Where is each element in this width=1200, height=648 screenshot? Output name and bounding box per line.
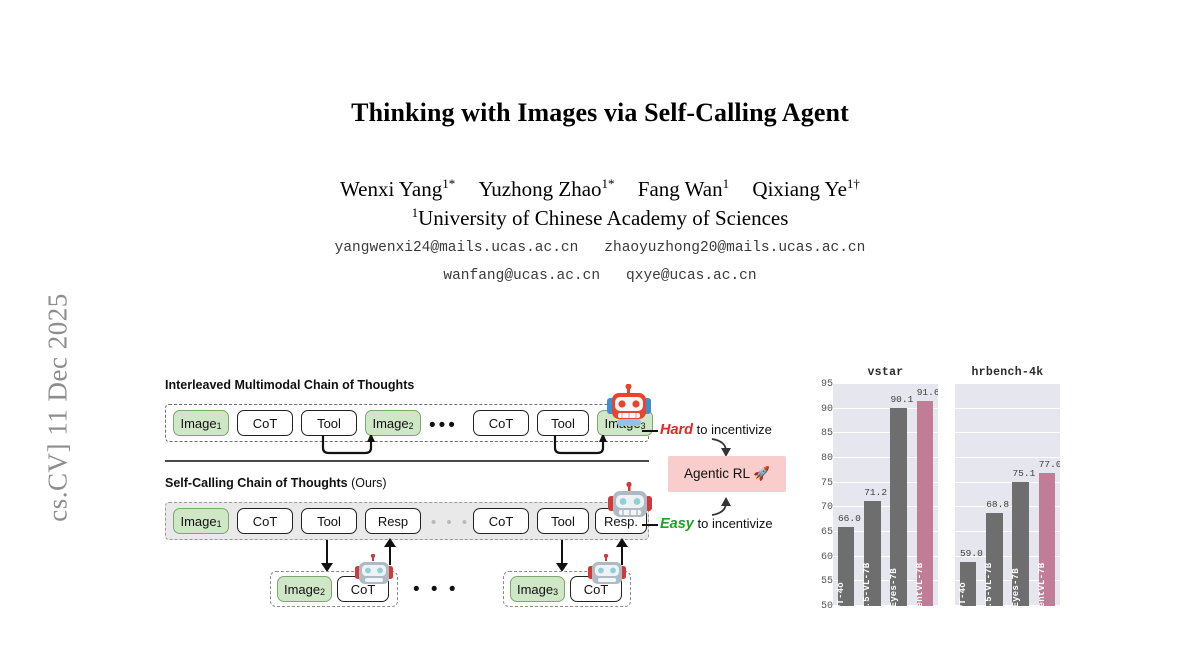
node-sc-tool-2[interactable]: Tool <box>537 508 589 534</box>
bar-value-label: 59.0 <box>960 548 976 559</box>
author-name: Wenxi Yang <box>340 177 442 201</box>
author-marks: 1 <box>723 176 730 191</box>
email-row-primary: yangwenxi24@mails.ucas.ac.cnzhaoyuzhong2… <box>0 240 1200 256</box>
agentic-rl-box[interactable]: Agentic RL 🚀 <box>668 456 786 492</box>
author-marks: 1† <box>847 176 860 191</box>
node-image-1[interactable]: Image1 <box>173 410 229 436</box>
interleaved-section-heading: Interleaved Multimodal Chain of Thoughts <box>165 378 414 392</box>
bar-series-label: Qwen2.5-VL-7B <box>984 563 994 606</box>
bar-value-label: 71.2 <box>864 487 880 498</box>
easy-annotation: Easy to incentivize <box>660 516 773 532</box>
robot-gray-icon-sub-2 <box>586 554 628 592</box>
author-entry: Wenxi Yang1* <box>340 177 455 201</box>
bar: SubagentVL-7B <box>917 401 933 606</box>
gridline <box>955 432 1060 433</box>
bar-series-label: SubagentVL-7B <box>915 563 925 606</box>
affiliation-name: University of Chinese Academy of Science… <box>418 206 788 230</box>
bar-value-label: 68.8 <box>986 499 1002 510</box>
gridline <box>955 408 1060 409</box>
y-tick-label: 95 <box>803 379 833 390</box>
node-sc-tool-1[interactable]: Tool <box>301 508 357 534</box>
author-entry: Qixiang Ye1† <box>752 177 860 201</box>
node-tool-1[interactable]: Tool <box>301 410 357 436</box>
email-link[interactable]: yangwenxi24@mails.ucas.ac.cn <box>335 240 579 256</box>
author-marks: 1* <box>442 176 455 191</box>
bar: GPT-4o <box>838 527 854 606</box>
node-image-2[interactable]: Image2 <box>365 410 421 436</box>
chart-panel-hrbench: hrbench-4k GPT-4o59.0Qwen2.5-VL-7B68.8De… <box>955 366 1060 606</box>
selfcalling-ellipsis: • • • <box>431 515 470 530</box>
bar-value-label: 90.1 <box>890 394 906 405</box>
tool-to-image-loop-icon-1 <box>315 435 385 457</box>
bar-series-label: DeepEyes-7B <box>889 568 899 606</box>
author-entry: Fang Wan1 <box>638 177 729 201</box>
hard-annotation: Hard to incentivize <box>660 422 772 438</box>
bar: DeepEyes-7B <box>890 408 906 606</box>
tool-call-down-stroke-2 <box>561 540 563 565</box>
y-tick-label: 50 <box>803 601 833 612</box>
page-title: Thinking with Images via Self-Calling Ag… <box>0 98 1200 128</box>
bar: GPT-4o <box>960 562 976 606</box>
resp-return-up-arrow-2 <box>616 538 628 547</box>
bar-series-label: GPT-4o <box>958 582 968 606</box>
bar-series-label: Qwen2.5-VL-7B <box>862 563 872 606</box>
y-tick-label: 55 <box>803 576 833 587</box>
tool-to-image-loop-icon-2 <box>547 435 617 457</box>
bar-value-label: 66.0 <box>838 513 854 524</box>
bar-value-label: 77.0 <box>1039 459 1055 470</box>
node-cot-2[interactable]: CoT <box>473 410 529 436</box>
author-name: Fang Wan <box>638 177 723 201</box>
y-axis-ticks: 50556065707580859095 <box>803 384 833 606</box>
y-tick-label: 85 <box>803 428 833 439</box>
y-tick-label: 70 <box>803 502 833 513</box>
tool-call-down-stroke-1 <box>326 540 328 565</box>
plot-area: GPT-4o59.0Qwen2.5-VL-7B68.8DeepEyes-7B75… <box>955 384 1060 606</box>
email-link[interactable]: qxye@ucas.ac.cn <box>626 268 757 284</box>
bar: Qwen2.5-VL-7B <box>986 513 1002 606</box>
benchmark-bar-chart: 50556065707580859095 vstar GPT-4o66.0Qwe… <box>805 344 1060 606</box>
bar-series-label: SubagentVL-7B <box>1037 563 1047 606</box>
email-link[interactable]: zhaoyuzhong20@mails.ucas.ac.cn <box>604 240 865 256</box>
easy-leader-line <box>642 524 658 526</box>
y-tick-label: 80 <box>803 453 833 464</box>
figure-caption-cutoff <box>150 640 910 648</box>
y-tick-label: 90 <box>803 404 833 415</box>
diagram-separator <box>165 460 649 462</box>
selfcalling-section-heading: Self-Calling Chain of Thoughts (Ours) <box>165 476 387 490</box>
hard-keyword: Hard <box>660 422 693 438</box>
email-link[interactable]: wanfang@ucas.ac.cn <box>443 268 600 284</box>
plot-area: GPT-4o66.0Qwen2.5-VL-7B71.2DeepEyes-7B90… <box>833 384 938 606</box>
incentivize-annotations: Hard to incentivize Agentic RL 🚀 Easy to… <box>648 412 818 542</box>
bar-series-label: DeepEyes-7B <box>1011 568 1021 606</box>
hard-leader-line <box>642 430 658 432</box>
node-sc-resp-1[interactable]: Resp <box>365 508 421 534</box>
easy-to-rl-arrow-icon <box>710 494 736 516</box>
affiliation: 1University of Chinese Academy of Scienc… <box>0 205 1200 231</box>
resp-return-up-arrow-1 <box>384 538 396 547</box>
y-tick-label: 65 <box>803 527 833 538</box>
node-cot-1[interactable]: CoT <box>237 410 293 436</box>
node-tool-2[interactable]: Tool <box>537 410 589 436</box>
hard-rest: to incentivize <box>697 422 772 437</box>
y-tick-label: 75 <box>803 478 833 489</box>
robot-gray-icon-sub-1 <box>353 554 395 592</box>
node-sc-cot-1[interactable]: CoT <box>237 508 293 534</box>
node-sc-image-1[interactable]: Image1 <box>173 508 229 534</box>
bar-value-label: 91.6 <box>917 387 933 398</box>
panel-title: vstar <box>833 366 938 379</box>
author-marks: 1* <box>602 176 615 191</box>
easy-keyword: Easy <box>660 516 694 532</box>
subchain-ellipsis: • • • <box>413 580 459 599</box>
easy-rest: to incentivize <box>698 516 773 531</box>
bar-series-label: GPT-4o <box>836 582 846 606</box>
bar: DeepEyes-7B <box>1012 482 1028 606</box>
email-row-secondary: wanfang@ucas.ac.cnqxye@ucas.ac.cn <box>0 268 1200 284</box>
bar: Qwen2.5-VL-7B <box>864 501 880 606</box>
bar: SubagentVL-7B <box>1039 473 1055 606</box>
arxiv-margin-stamp: cs.CV] 11 Dec 2025 <box>43 238 74 578</box>
panel-title: hrbench-4k <box>955 366 1060 379</box>
selfcalling-heading-suffix: (Ours) <box>351 476 386 490</box>
chart-panel-vstar: vstar GPT-4o66.0Qwen2.5-VL-7B71.2DeepEye… <box>833 366 938 606</box>
y-tick-label: 60 <box>803 552 833 563</box>
author-list: Wenxi Yang1* Yuzhong Zhao1* Fang Wan1 Qi… <box>0 176 1200 202</box>
node-sub-image-3[interactable]: Image3 <box>510 576 565 602</box>
author-name: Yuzhong Zhao <box>478 177 601 201</box>
author-entry: Yuzhong Zhao1* <box>478 177 614 201</box>
bar-value-label: 75.1 <box>1012 468 1028 479</box>
node-sub-image-2[interactable]: Image2 <box>277 576 332 602</box>
author-name: Qixiang Ye <box>752 177 847 201</box>
node-sc-cot-2[interactable]: CoT <box>473 508 529 534</box>
interleaved-ellipsis: ••• <box>429 416 458 435</box>
